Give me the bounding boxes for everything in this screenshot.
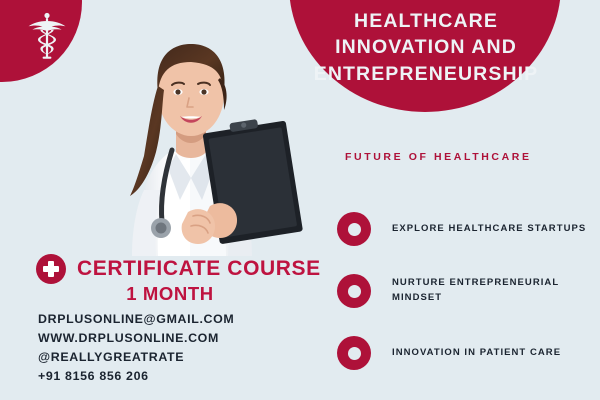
certificate-title: CERTIFICATE COURSE [77,257,321,281]
list-item-label: NURTURE ENTREPRENEURIAL MINDSET [392,276,587,305]
list-item: EXPLORE HEALTHCARE STARTUPS [337,198,587,260]
ring-bullet-icon [337,274,371,308]
contact-website: WWW.DRPLUSONLINE.COM [38,329,234,348]
title-line-1: HEALTHCARE [300,8,552,34]
contact-phone: +91 8156 856 206 [38,367,234,386]
page-title: HEALTHCARE INNOVATION AND ENTREPRENEURSH… [300,8,552,87]
feature-list: EXPLORE HEALTHCARE STARTUPS NURTURE ENTR… [337,198,587,384]
section-heading: FUTURE OF HEALTHCARE [345,151,532,163]
ring-bullet-icon [337,212,371,246]
medical-cross-icon [36,254,66,284]
certificate-heading: CERTIFICATE COURSE [36,254,321,284]
contact-email: DRPLUSONLINE@GMAIL.COM [38,310,234,329]
title-line-2: INNOVATION AND [300,34,552,60]
certificate-duration: 1 MONTH [36,283,304,305]
contact-block: DRPLUSONLINE@GMAIL.COM WWW.DRPLUSONLINE.… [38,310,234,386]
title-line-3: ENTREPRENEURSHIP [300,61,552,87]
ring-bullet-icon [337,336,371,370]
list-item-label: INNOVATION IN PATIENT CARE [392,346,561,361]
list-item-label: EXPLORE HEALTHCARE STARTUPS [392,222,586,237]
doctor-photo [60,0,318,256]
poster-canvas: HEALTHCARE INNOVATION AND ENTREPRENEURSH… [0,0,600,400]
contact-social-handle: @REALLYGREATRATE [38,348,234,367]
list-item: INNOVATION IN PATIENT CARE [337,322,587,384]
list-item: NURTURE ENTREPRENEURIAL MINDSET [337,260,587,322]
